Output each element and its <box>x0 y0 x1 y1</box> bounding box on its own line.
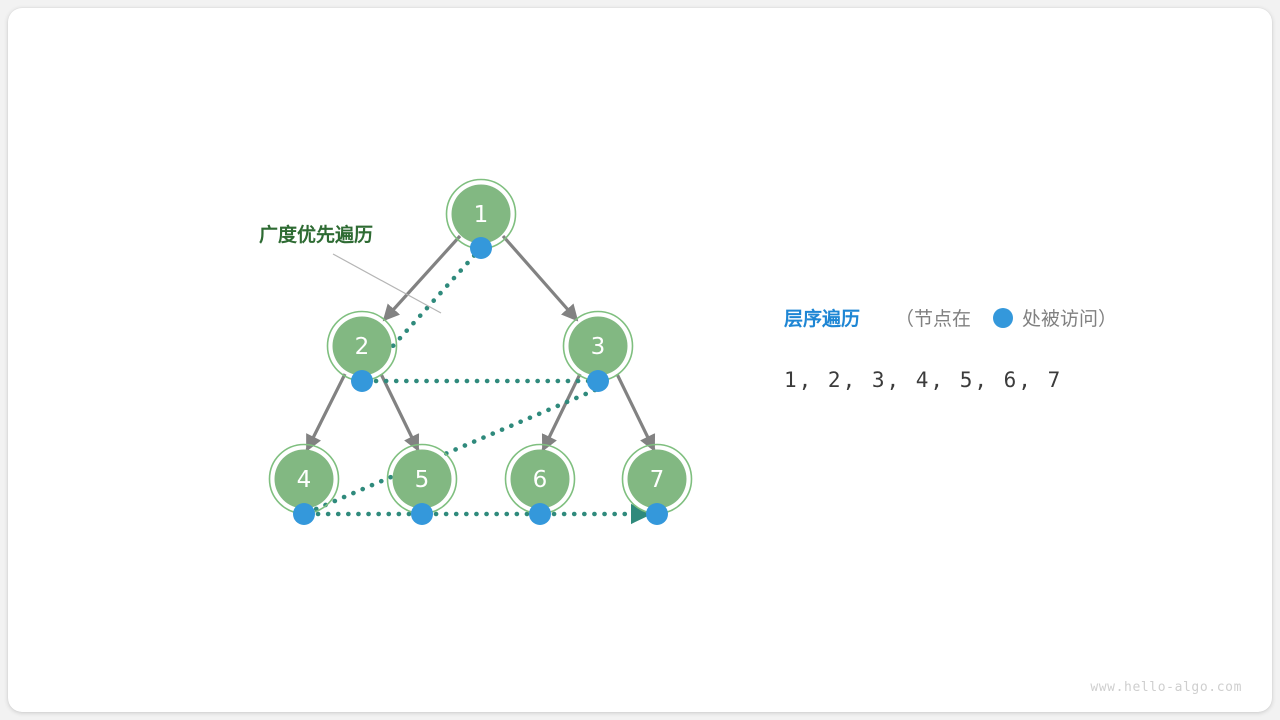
watermark-text: www.hello-algo.com <box>1090 680 1242 695</box>
figure-page: 1 2 3 4 5 <box>0 0 1280 720</box>
legend-title: 层序遍历 <box>784 307 860 330</box>
node-label: 6 <box>533 467 548 493</box>
visit-dot-node-4[interactable] <box>293 503 315 525</box>
bfs-tree-diagram: 1 2 3 4 5 <box>0 0 1280 720</box>
bfs-annotation-label: 广度优先遍历 <box>259 223 373 246</box>
visit-dot-node-7[interactable] <box>646 503 668 525</box>
bfs-annotation: 广度优先遍历 <box>259 223 441 313</box>
node-label: 5 <box>415 467 430 493</box>
edge-3-7 <box>617 374 654 450</box>
legend-note-prefix: （节点在 <box>895 308 971 330</box>
node-label: 2 <box>355 334 370 360</box>
visit-dots <box>293 237 668 525</box>
traversal-sequence: 1, 2, 3, 4, 5, 6, 7 <box>784 368 1062 392</box>
visit-dot-node-5[interactable] <box>411 503 433 525</box>
visit-dot-node-6[interactable] <box>529 503 551 525</box>
edge-2-5 <box>381 374 418 450</box>
visit-dot-node-1[interactable] <box>470 237 492 259</box>
node-label: 4 <box>297 467 312 493</box>
node-label: 3 <box>591 334 606 360</box>
node-label: 1 <box>474 202 489 228</box>
bfs-annotation-leader-line <box>333 254 441 313</box>
legend-visit-dot-icon <box>993 308 1013 328</box>
edge-1-2 <box>384 236 460 320</box>
node-label: 7 <box>650 467 665 493</box>
edge-2-4 <box>307 374 345 450</box>
legend-note-suffix: 处被访问） <box>1022 308 1117 330</box>
visit-dot-node-3[interactable] <box>587 370 609 392</box>
legend-panel: 层序遍历 （节点在 处被访问） 1, 2, 3, 4, 5, 6, 7 <box>784 307 1117 392</box>
visit-dot-node-2[interactable] <box>351 370 373 392</box>
edge-1-3 <box>503 236 577 320</box>
